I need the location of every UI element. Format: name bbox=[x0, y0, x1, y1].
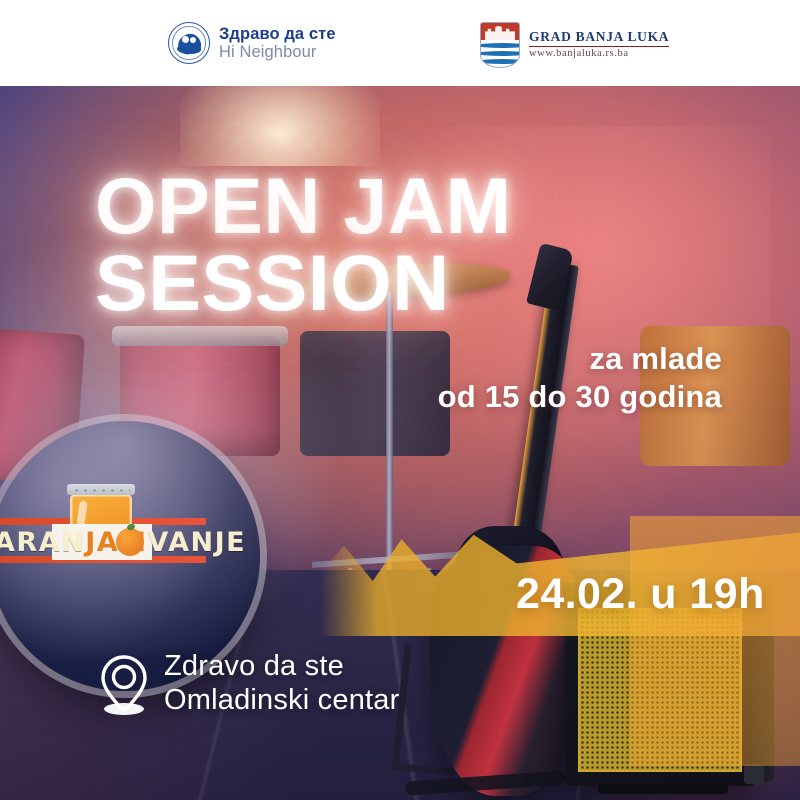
hi-neighbour-line-2: Hi Neighbour bbox=[219, 43, 336, 61]
partner-logo-banja-luka[interactable]: GRAD BANJA LUKA www.banjaluka.rs.ba bbox=[480, 22, 669, 68]
partner-logo-bar: Здраво да сте Hi Neighbour GRAD BANJA LU… bbox=[0, 0, 800, 86]
naranjamovanje-logo: NARANJAMVANJE bbox=[0, 486, 224, 574]
date-time-badge: 24.02. u 19h bbox=[516, 570, 765, 619]
venue-line-2: Omladinski centar bbox=[164, 684, 400, 718]
banja-luka-coat-of-arms-icon bbox=[480, 22, 520, 68]
title-line-2: SESSION bbox=[95, 245, 512, 322]
age-line-2: od 15 do 30 godina bbox=[438, 378, 722, 416]
banja-luka-line-2: www.banjaluka.rs.ba bbox=[529, 48, 669, 61]
page-title: OPEN JAM SESSION bbox=[95, 168, 512, 321]
partner-logo-hi-neighbour[interactable]: Здраво да сте Hi Neighbour bbox=[168, 22, 336, 64]
venue-line-1: Zdravo da ste bbox=[164, 650, 400, 684]
title-line-1: OPEN JAM bbox=[95, 161, 512, 250]
banja-luka-wordmark: GRAD BANJA LUKA www.banjaluka.rs.ba bbox=[529, 29, 669, 61]
hi-neighbour-line-1: Здраво да сте bbox=[219, 25, 336, 43]
brand-suffix: VANJE bbox=[148, 527, 247, 558]
age-line-1: za mlade bbox=[438, 340, 722, 378]
hi-neighbour-emblem-icon bbox=[168, 22, 210, 64]
venue-block: Zdravo da ste Omladinski centar bbox=[98, 650, 400, 718]
amplifier-corner-bottom bbox=[744, 764, 764, 784]
stage-lamp-glow bbox=[180, 86, 380, 166]
brand-prefix: NARAN bbox=[0, 527, 85, 558]
banja-luka-line-1: GRAD BANJA LUKA bbox=[529, 29, 669, 47]
age-group-note: za mlade od 15 do 30 godina bbox=[438, 340, 722, 416]
location-pin-icon bbox=[98, 652, 150, 716]
brand-wordmark: NARANJAMVANJE bbox=[0, 524, 224, 560]
amplifier-foot bbox=[598, 784, 728, 794]
event-poster: NARANJAMVANJE OPEN JAM SESSION za mlade … bbox=[0, 0, 800, 800]
orange-fruit-icon bbox=[116, 528, 144, 556]
venue-name: Zdravo da ste Omladinski centar bbox=[164, 650, 400, 718]
hi-neighbour-wordmark: Здраво да сте Hi Neighbour bbox=[219, 25, 336, 62]
